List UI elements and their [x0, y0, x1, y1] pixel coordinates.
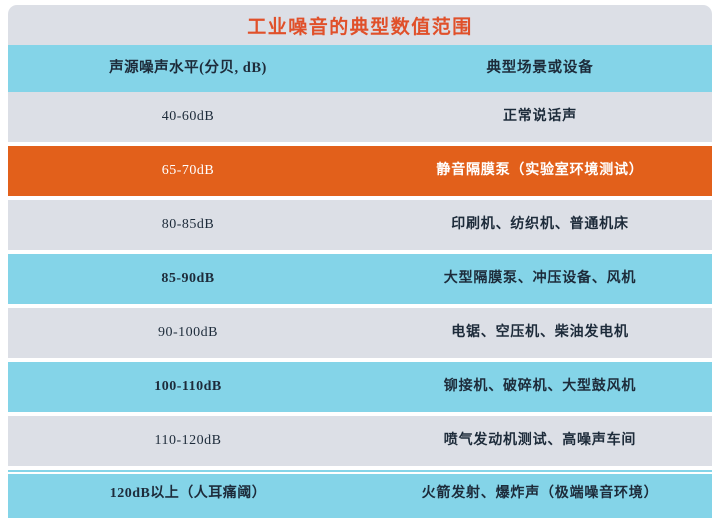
- column-header-level: 声源噪声水平(分贝, dB): [8, 60, 368, 77]
- cell-scene-or-equipment: 大型隔膜泵、冲压设备、风机: [368, 271, 712, 288]
- cell-scene-or-equipment: 电锯、空压机、柴油发电机: [368, 325, 712, 342]
- cell-noise-level: 90-100dB: [8, 325, 368, 342]
- table-row: 85-90dB大型隔膜泵、冲压设备、风机: [8, 254, 712, 304]
- table-header-row: 声源噪声水平(分贝, dB) 典型场景或设备: [8, 45, 712, 92]
- table-row: 80-85dB印刷机、纺织机、普通机床: [8, 200, 712, 250]
- table-row: 110-120dB喷气发动机测试、高噪声车间: [8, 416, 712, 466]
- cell-noise-level: 100-110dB: [8, 379, 368, 396]
- cell-noise-level: 80-85dB: [8, 217, 368, 234]
- cell-noise-level: 65-70dB: [8, 163, 368, 180]
- cell-scene-or-equipment: 铆接机、破碎机、大型鼓风机: [368, 379, 712, 396]
- cell-noise-level: 120dB以上（人耳痛阈）: [8, 486, 368, 503]
- cell-scene-or-equipment: 火箭发射、爆炸声（极端噪音环境）: [368, 486, 712, 503]
- table-title-bar: 工业噪音的典型数值范围: [8, 5, 712, 45]
- cell-scene-or-equipment: 静音隔膜泵（实验室环境测试）: [368, 163, 712, 180]
- table-row: 65-70dB静音隔膜泵（实验室环境测试）: [8, 146, 712, 196]
- noise-level-table: 工业噪音的典型数值范围 声源噪声水平(分贝, dB) 典型场景或设备 40-60…: [8, 5, 712, 518]
- cell-scene-or-equipment: 正常说话声: [368, 109, 712, 126]
- table-row: 120dB以上（人耳痛阈）火箭发射、爆炸声（极端噪音环境）: [8, 470, 712, 518]
- column-header-scene: 典型场景或设备: [368, 60, 712, 77]
- page-title: 工业噪音的典型数值范围: [247, 12, 473, 39]
- cell-noise-level: 85-90dB: [8, 271, 368, 288]
- cell-scene-or-equipment: 印刷机、纺织机、普通机床: [368, 217, 712, 234]
- table-row: 100-110dB铆接机、破碎机、大型鼓风机: [8, 362, 712, 412]
- table-row: 90-100dB电锯、空压机、柴油发电机: [8, 308, 712, 358]
- cell-scene-or-equipment: 喷气发动机测试、高噪声车间: [368, 433, 712, 450]
- cell-noise-level: 110-120dB: [8, 433, 368, 450]
- cell-noise-level: 40-60dB: [8, 109, 368, 126]
- table-row: 40-60dB正常说话声: [8, 92, 712, 142]
- table-body: 40-60dB正常说话声65-70dB静音隔膜泵（实验室环境测试）80-85dB…: [8, 92, 712, 518]
